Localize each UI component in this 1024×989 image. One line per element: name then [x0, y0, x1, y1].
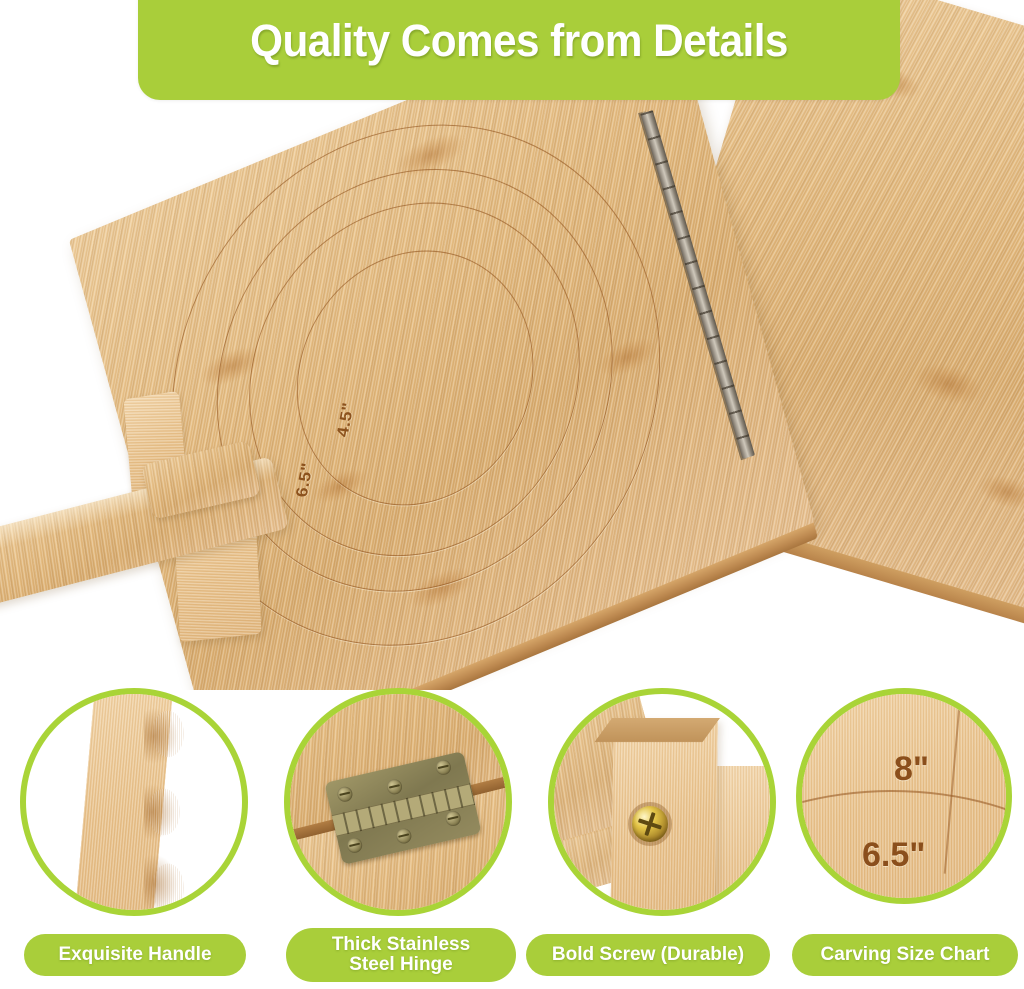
bamboo-node — [405, 560, 478, 616]
callout-hinge-image — [290, 694, 506, 910]
front-panel-edge — [215, 522, 818, 690]
callout-circle-screw — [548, 688, 776, 916]
size-ring-label-45: 4.5" — [333, 401, 358, 438]
label-pill-hinge-text: Thick Stainless Steel Hinge — [332, 935, 470, 975]
label-pill-hinge-line2: Steel Hinge — [349, 954, 452, 975]
screw-post-top — [595, 718, 720, 742]
bamboo-node — [197, 340, 266, 394]
handle-wave-shadow — [144, 694, 206, 910]
callout-screw-image — [554, 694, 770, 910]
label-pill-chart-text: Carving Size Chart — [821, 945, 990, 965]
bamboo-node — [392, 125, 469, 184]
size-ring-label-65: 6.5" — [292, 461, 317, 498]
callout-chart-image: 8" 6.5" — [802, 694, 1006, 898]
hinge-screw — [395, 827, 413, 845]
bamboo-node — [310, 462, 371, 509]
product-infographic: 10" 8" 6.5" 4.5" Quality Comes from Deta… — [0, 0, 1024, 989]
size-ring-45 — [269, 212, 562, 543]
label-pill-hinge: Thick Stainless Steel Hinge — [286, 928, 516, 982]
size-ring-65 — [210, 149, 619, 609]
hinge-screw — [346, 836, 364, 854]
hinge-screw — [336, 785, 354, 803]
chart-label-8: 8" — [894, 750, 929, 789]
screw-right-board — [714, 766, 770, 910]
label-pill-screw: Bold Screw (Durable) — [526, 934, 770, 976]
page-title: Quality Comes from Details — [161, 18, 877, 63]
chart-label-65: 6.5" — [862, 836, 925, 875]
bamboo-node — [910, 357, 987, 411]
callout-circle-size-chart: 8" 6.5" — [796, 688, 1012, 904]
bamboo-node — [976, 469, 1024, 514]
label-pill-chart: Carving Size Chart — [792, 934, 1018, 976]
hinge-screw — [444, 809, 462, 827]
hinge-screw — [386, 778, 404, 796]
label-pill-handle: Exquisite Handle — [24, 934, 246, 976]
label-pill-handle-text: Exquisite Handle — [58, 945, 211, 965]
callout-circle-hinge — [284, 688, 512, 916]
hinge-screw — [434, 758, 452, 776]
label-pill-hinge-line1: Thick Stainless — [332, 934, 470, 955]
header-banner: Quality Comes from Details — [138, 0, 900, 100]
label-pill-screw-text: Bold Screw (Durable) — [552, 945, 744, 965]
callout-circle-handle — [20, 688, 248, 916]
callout-handle-image — [26, 694, 242, 910]
bamboo-node — [595, 331, 660, 384]
hero-product-photo: 10" 8" 6.5" 4.5" — [0, 0, 1024, 690]
phillips-screw-icon — [632, 806, 668, 842]
